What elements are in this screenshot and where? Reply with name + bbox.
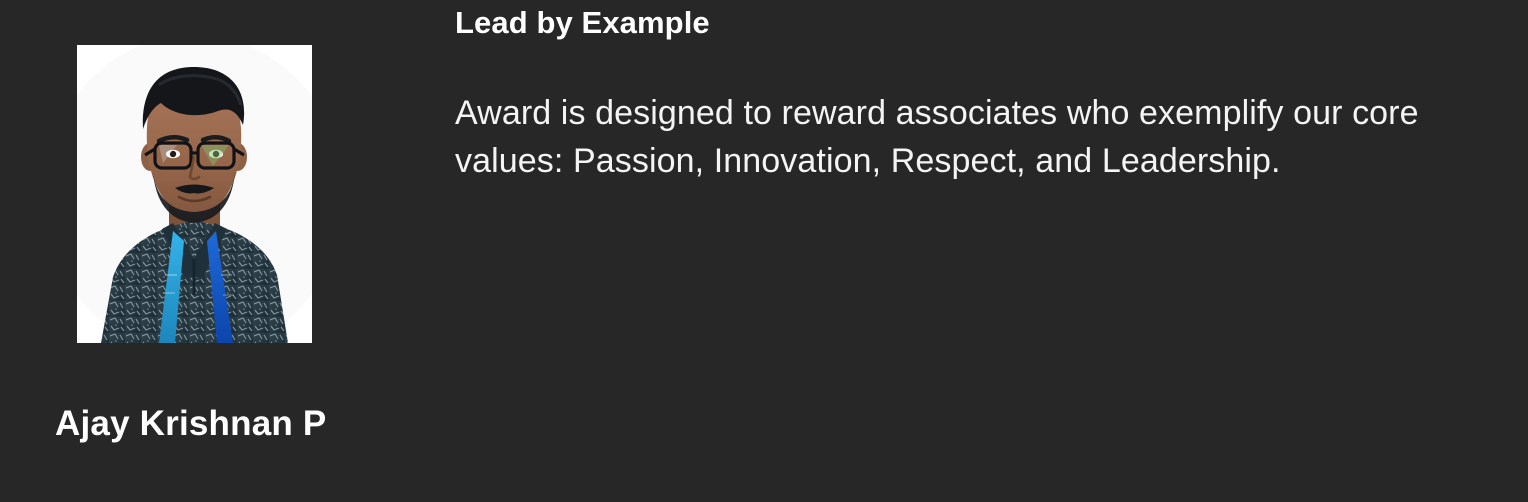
recipient-name: Ajay Krishnan P [55, 404, 326, 444]
recipient-photo [77, 45, 312, 343]
award-text-block: Lead by Example Award is designed to rew… [455, 0, 1500, 186]
portrait-illustration [77, 45, 312, 343]
profile-block: Ajay Krishnan P [0, 0, 440, 502]
award-slide: Ajay Krishnan P Lead by Example Award is… [0, 0, 1528, 502]
award-title: Lead by Example [455, 0, 1500, 41]
award-description: Award is designed to reward associates w… [455, 41, 1500, 186]
